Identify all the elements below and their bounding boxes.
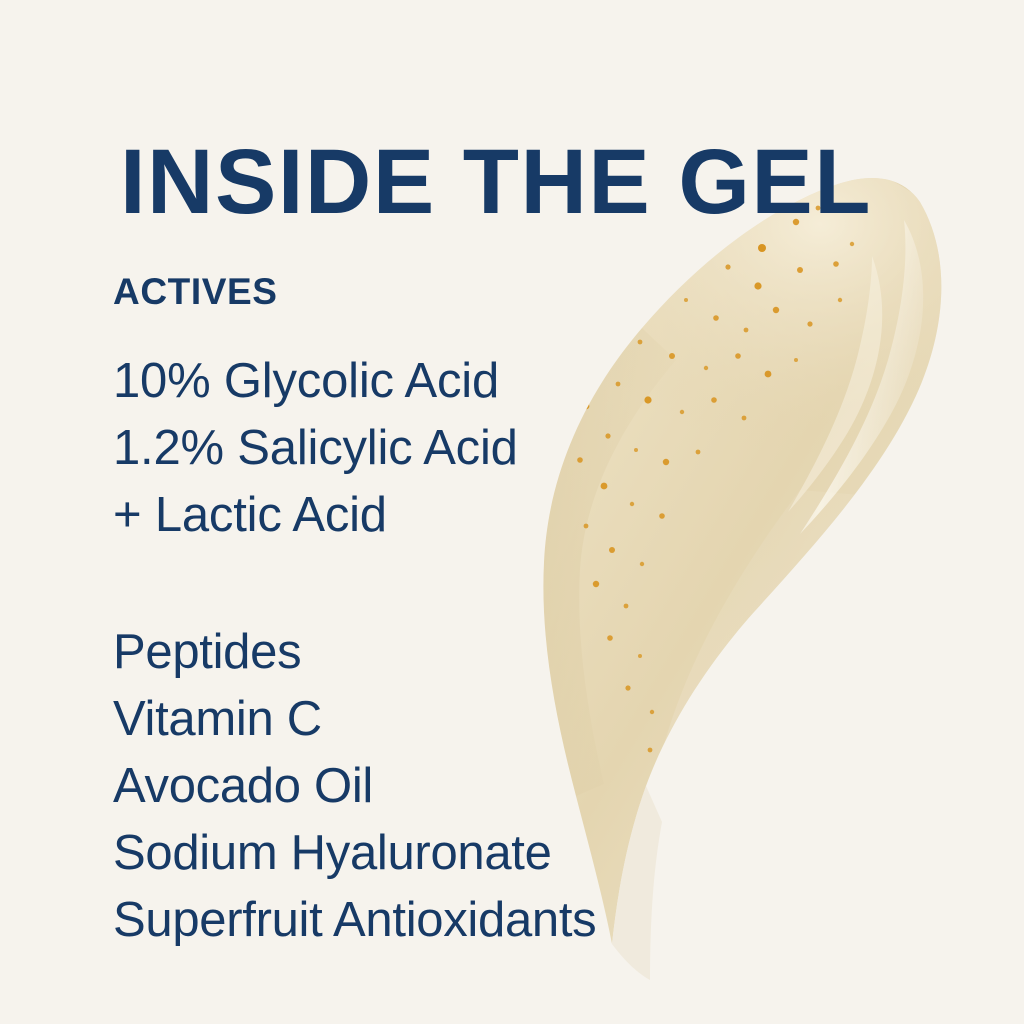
gel-sheen [788, 256, 882, 512]
list-item: Vitamin C [113, 686, 673, 753]
list-item: + Lactic Acid [113, 482, 673, 549]
gel-bead [838, 298, 842, 302]
gel-bead [744, 328, 749, 333]
gel-bead [794, 358, 798, 362]
list-item: 1.2% Salicylic Acid [113, 415, 673, 482]
gel-bead [773, 307, 779, 313]
gel-bead [758, 244, 766, 252]
list-item: 10% Glycolic Acid [113, 348, 673, 415]
promo-card: INSIDE THE GEL ACTIVES 10% Glycolic Acid… [0, 0, 1024, 1024]
gel-bead [696, 450, 701, 455]
page-title: INSIDE THE GEL [120, 134, 872, 230]
gel-bead [742, 416, 747, 421]
gel-bead [711, 397, 717, 403]
actives-heading: ACTIVES [113, 270, 673, 314]
gel-bead [704, 366, 708, 370]
supporting-ingredients-list: Peptides Vitamin C Avocado Oil Sodium Hy… [113, 619, 673, 954]
list-item: Peptides [113, 619, 673, 686]
gel-bead [698, 238, 702, 242]
list-item: Avocado Oil [113, 753, 673, 820]
gel-bead [713, 315, 719, 321]
gel-bead [680, 410, 684, 414]
gel-bead [797, 267, 803, 273]
list-item: Superfruit Antioxidants [113, 887, 673, 954]
gel-bead [735, 353, 741, 359]
gel-bead [807, 321, 812, 326]
list-item: Sodium Hyaluronate [113, 820, 673, 887]
gel-bead [754, 282, 761, 289]
ingredient-panel: ACTIVES 10% Glycolic Acid 1.2% Salicylic… [113, 270, 673, 954]
gel-bead [833, 261, 839, 267]
gel-bead [765, 371, 772, 378]
gel-bead [725, 264, 730, 269]
gel-bead [668, 246, 672, 250]
gel-rim-highlight [800, 220, 923, 534]
actives-list: 10% Glycolic Acid 1.2% Salicylic Acid + … [113, 348, 673, 549]
gel-bead [850, 242, 854, 246]
gel-bead [684, 298, 688, 302]
